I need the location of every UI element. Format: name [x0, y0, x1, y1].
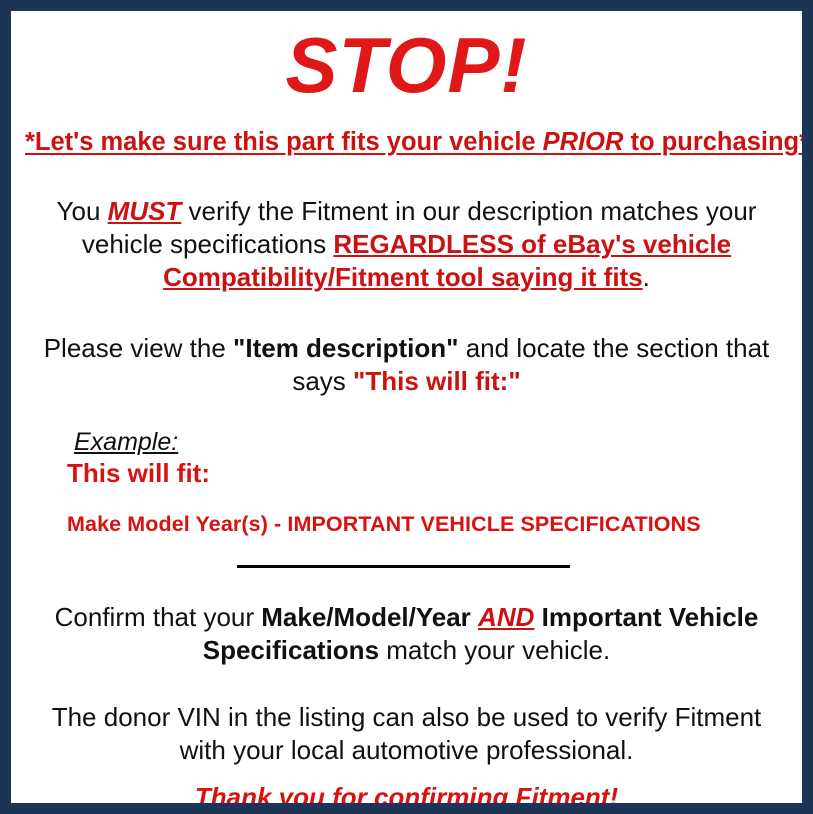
this-will-fit-emphasis: "This will fit:"	[353, 366, 521, 396]
thank-you-message: Thank you for confirming Fitment!	[25, 781, 788, 813]
fitment-notice-frame: STOP! *Let's make sure this part fits yo…	[0, 0, 813, 814]
example-fit-heading: This will fit:	[61, 458, 788, 489]
donor-vin-paragraph: The donor VIN in the listing can also be…	[25, 701, 788, 767]
section-divider	[237, 565, 570, 568]
example-label-row: Example:	[61, 428, 788, 457]
stop-headline: STOP!	[25, 11, 788, 109]
confirm-part2	[471, 602, 478, 632]
example-label: Example:	[61, 428, 178, 457]
must-paragraph-part1: You	[57, 196, 108, 226]
tagline: *Let's make sure this part fits your veh…	[25, 127, 788, 157]
tagline-emphasis-prior: PRIOR	[543, 128, 624, 156]
confirm-paragraph: Confirm that your Make/Model/Year AND Im…	[25, 601, 788, 667]
divider-wrap	[25, 559, 788, 573]
tagline-text-before: *Let's make sure this part fits your veh…	[25, 128, 543, 156]
must-paragraph-part3: .	[643, 262, 650, 292]
must-verify-paragraph: You MUST verify the Fitment in our descr…	[25, 195, 788, 294]
must-emphasis: MUST	[108, 196, 182, 226]
view-description-paragraph: Please view the "Item description" and l…	[25, 332, 788, 398]
confirm-part1: Confirm that your	[55, 602, 262, 632]
and-emphasis: AND	[478, 602, 534, 632]
confirm-part3	[534, 602, 541, 632]
example-spec-line: Make Model Year(s) - IMPORTANT VEHICLE S…	[61, 511, 788, 537]
confirm-part4: match your vehicle.	[379, 635, 610, 665]
tagline-text-after: to purchasing*	[623, 128, 809, 156]
view-paragraph-part1: Please view the	[44, 333, 233, 363]
fitment-notice-body: STOP! *Let's make sure this part fits yo…	[11, 11, 802, 803]
make-model-year-emphasis: Make/Model/Year	[261, 602, 471, 632]
item-description-emphasis: "Item description"	[233, 333, 458, 363]
example-block: Example: This will fit: Make Model Year(…	[25, 428, 788, 537]
